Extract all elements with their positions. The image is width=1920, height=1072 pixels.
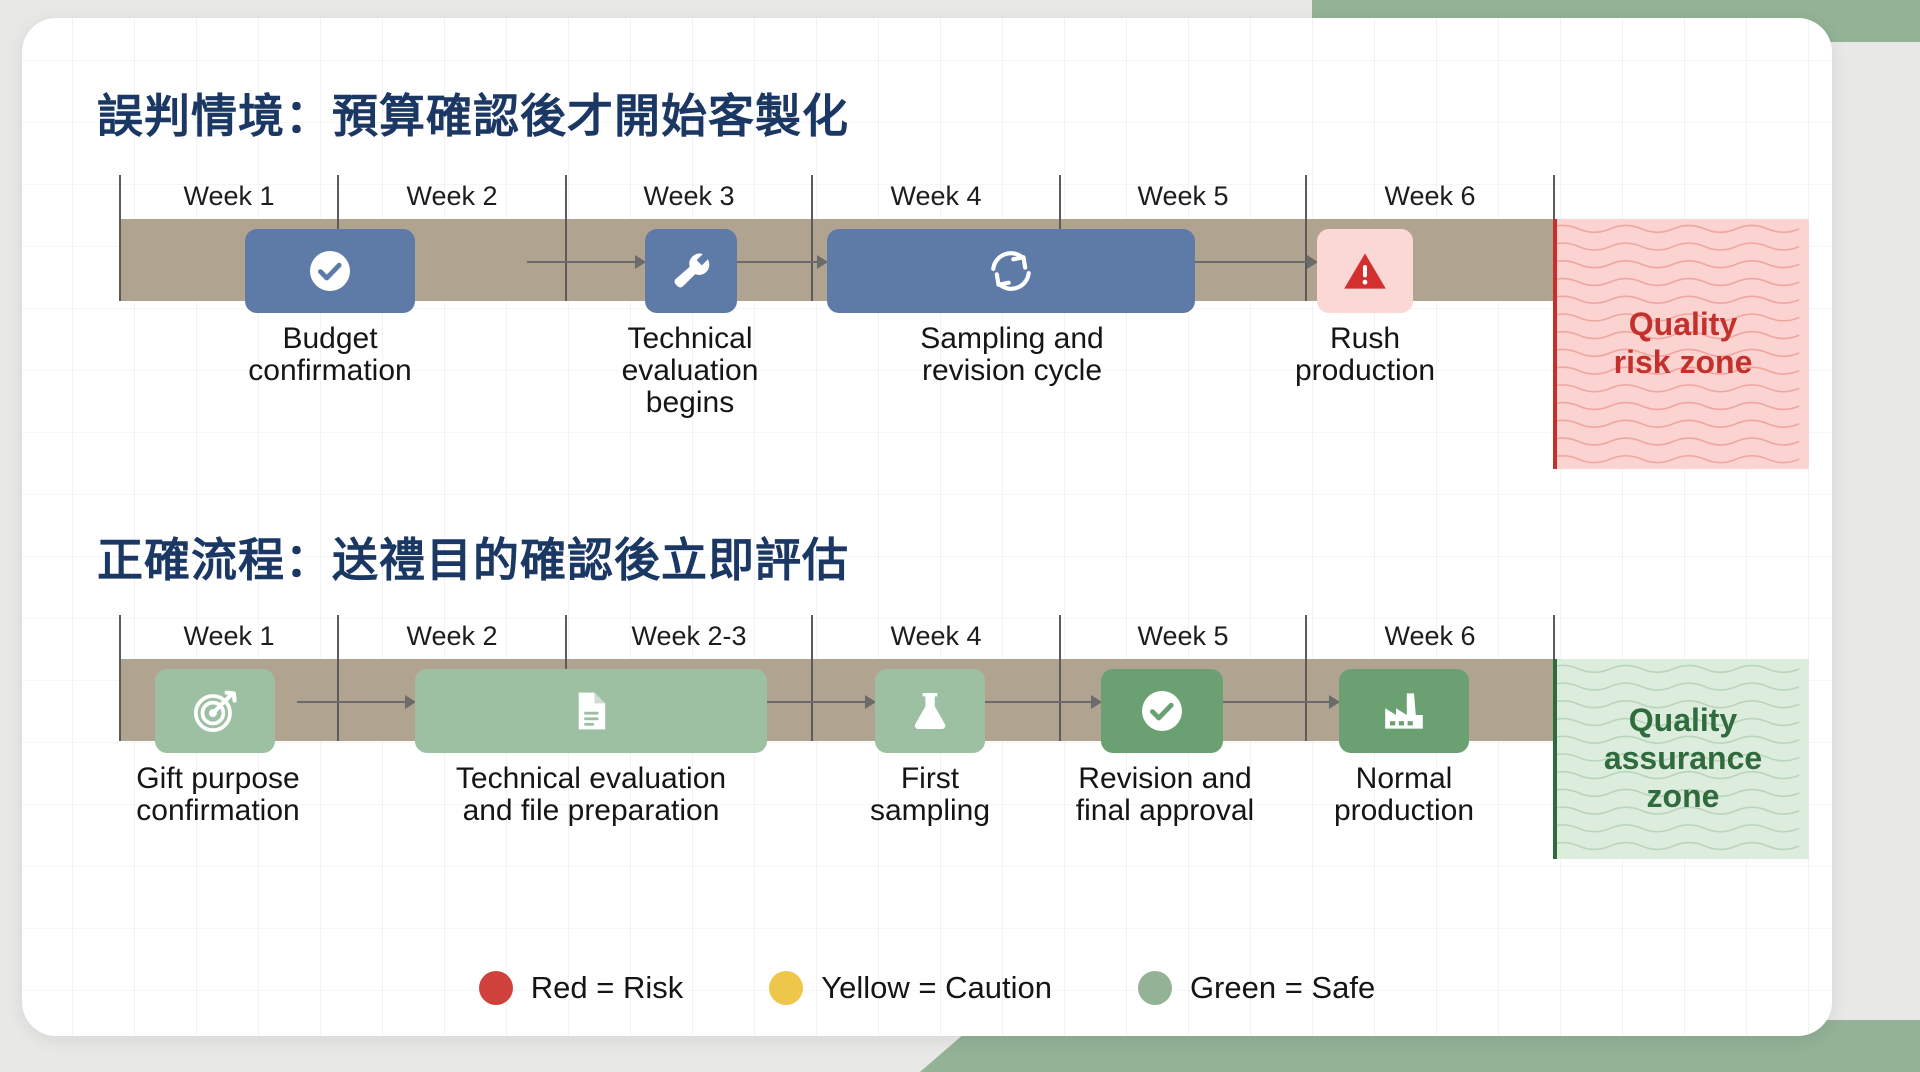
- task-caption-technical-evaluation-file-preparation: Technical evaluation and file preparatio…: [415, 763, 767, 827]
- week-label-1-5: Week 5: [1059, 175, 1305, 217]
- week-header-row-1: Week 1 Week 2 Week 3 Week 4 Week 5 Week …: [119, 175, 1787, 217]
- connector-arrow-1-3: [1195, 261, 1317, 263]
- task-block-rush-production[interactable]: [1317, 229, 1413, 313]
- week-tick-1-0: [119, 175, 121, 301]
- refresh-cycle-icon: [986, 246, 1036, 296]
- legend-dot-green-icon: [1138, 971, 1172, 1005]
- page-title-wrong-process: 誤判情境：預算確認後才開始客製化: [97, 80, 849, 146]
- legend-item-red: Red = Risk: [479, 970, 683, 1006]
- task-caption-rush-production: Rush production: [1257, 323, 1473, 387]
- task-caption-revision-final-approval: Revision and final approval: [1062, 763, 1268, 827]
- check-circle-icon: [306, 247, 354, 295]
- legend-item-green: Green = Safe: [1138, 970, 1375, 1006]
- task-caption-normal-production: Normal production: [1287, 763, 1521, 827]
- zone-line: risk zone: [1614, 344, 1753, 382]
- check-circle-icon: [1138, 687, 1186, 735]
- task-caption-gift-purpose-confirmation: Gift purpose confirmation: [119, 763, 317, 827]
- week-label-2-1: Week 1: [119, 615, 337, 657]
- week-label-2-6: Week 6: [1305, 615, 1553, 657]
- connector-arrow-2-4: [1223, 701, 1339, 703]
- infographic-card: 誤判情境：預算確認後才開始客製化 Week 1 Week 2 Week 3 We…: [22, 18, 1832, 1036]
- week-tick-2-1: [337, 615, 339, 741]
- caption-line: Budget: [225, 323, 435, 355]
- caption-line: evaluation: [575, 355, 805, 387]
- caption-line: production: [1287, 795, 1521, 827]
- zone-line: Quality: [1614, 306, 1753, 344]
- legend-label-yellow: Yellow = Caution: [821, 970, 1052, 1006]
- caption-line: Technical evaluation: [415, 763, 767, 795]
- week-label-1-3: Week 3: [565, 175, 811, 217]
- connector-arrow-2-2: [767, 701, 875, 703]
- task-block-revision-final-approval[interactable]: [1101, 669, 1223, 753]
- caption-line: Revision and: [1062, 763, 1268, 795]
- task-caption-technical-evaluation-begins: Technical evaluation begins: [575, 323, 805, 418]
- task-block-gift-purpose-confirmation[interactable]: [155, 669, 275, 753]
- connector-arrow-2-1: [297, 701, 415, 703]
- factory-icon: [1380, 687, 1428, 735]
- wrench-icon: [669, 249, 713, 293]
- task-block-technical-evaluation-file-preparation[interactable]: [415, 669, 767, 753]
- zone-line: zone: [1604, 778, 1762, 816]
- week-tick-2-5: [1305, 615, 1307, 741]
- caption-line: confirmation: [225, 355, 435, 387]
- week-header-row-2: Week 1 Week 2 Week 2-3 Week 4 Week 5 Wee…: [119, 615, 1787, 657]
- caption-line: revision cycle: [887, 355, 1137, 387]
- task-caption-first-sampling: First sampling: [847, 763, 1013, 827]
- week-tick-2-3: [811, 615, 813, 741]
- week-label-2-2: Week 2: [337, 615, 565, 657]
- quality-assurance-zone-label: Quality assurance zone: [1604, 702, 1762, 815]
- task-block-technical-evaluation-begins[interactable]: [645, 229, 737, 313]
- week-label-1-4: Week 4: [811, 175, 1059, 217]
- timeline-wrong-process: Week 1 Week 2 Week 3 Week 4 Week 5 Week …: [97, 175, 1787, 475]
- task-block-budget-confirmation[interactable]: [245, 229, 415, 313]
- quality-risk-zone-label: Quality risk zone: [1614, 306, 1753, 382]
- task-caption-sampling-revision-cycle: Sampling and revision cycle: [887, 323, 1137, 387]
- quality-risk-zone: Quality risk zone: [1553, 219, 1809, 469]
- week-label-1-1: Week 1: [119, 175, 337, 217]
- caption-line: Technical: [575, 323, 805, 355]
- task-block-first-sampling[interactable]: [875, 669, 985, 753]
- legend-dot-yellow-icon: [769, 971, 803, 1005]
- task-caption-budget-confirmation: Budget confirmation: [225, 323, 435, 387]
- page-title-correct-process: 正確流程：送禮目的確認後立即評估: [97, 524, 849, 590]
- week-label-2-3: Week 2-3: [565, 615, 811, 657]
- caption-line: First: [847, 763, 1013, 795]
- connector-arrow-2-3: [985, 701, 1101, 703]
- caption-line: final approval: [1062, 795, 1268, 827]
- caption-line: sampling: [847, 795, 1013, 827]
- week-label-2-5: Week 5: [1059, 615, 1305, 657]
- legend-label-green: Green = Safe: [1190, 970, 1375, 1006]
- week-tick-1-3: [811, 175, 813, 301]
- caption-line: confirmation: [119, 795, 317, 827]
- caption-line: Sampling and: [887, 323, 1137, 355]
- week-tick-1-2: [565, 175, 567, 301]
- document-icon: [568, 688, 614, 734]
- quality-assurance-zone: Quality assurance zone: [1553, 659, 1809, 859]
- legend-item-yellow: Yellow = Caution: [769, 970, 1052, 1006]
- task-block-normal-production[interactable]: [1339, 669, 1469, 753]
- caption-line: production: [1257, 355, 1473, 387]
- week-label-1-6: Week 6: [1305, 175, 1553, 217]
- week-tick-2-4: [1059, 615, 1061, 741]
- legend: Red = Risk Yellow = Caution Green = Safe: [22, 970, 1832, 1006]
- connector-arrow-1-2: [737, 261, 827, 263]
- week-tick-1-5: [1305, 175, 1307, 301]
- caption-line: begins: [575, 387, 805, 419]
- target-icon: [190, 686, 240, 736]
- connector-arrow-1-1: [527, 261, 645, 263]
- week-label-2-4: Week 4: [811, 615, 1059, 657]
- task-block-sampling-revision-cycle[interactable]: [827, 229, 1195, 313]
- caption-line: Rush: [1257, 323, 1473, 355]
- flask-icon: [907, 688, 953, 734]
- caption-line: Gift purpose: [119, 763, 317, 795]
- week-tick-2-0: [119, 615, 121, 741]
- legend-label-red: Red = Risk: [531, 970, 683, 1006]
- caption-line: and file preparation: [415, 795, 767, 827]
- zone-line: assurance: [1604, 740, 1762, 778]
- legend-dot-red-icon: [479, 971, 513, 1005]
- caption-line: Normal: [1287, 763, 1521, 795]
- zone-line: Quality: [1604, 702, 1762, 740]
- timeline-correct-process: Week 1 Week 2 Week 2-3 Week 4 Week 5 Wee…: [97, 615, 1787, 915]
- week-label-1-2: Week 2: [337, 175, 565, 217]
- warning-triangle-icon: [1341, 247, 1389, 295]
